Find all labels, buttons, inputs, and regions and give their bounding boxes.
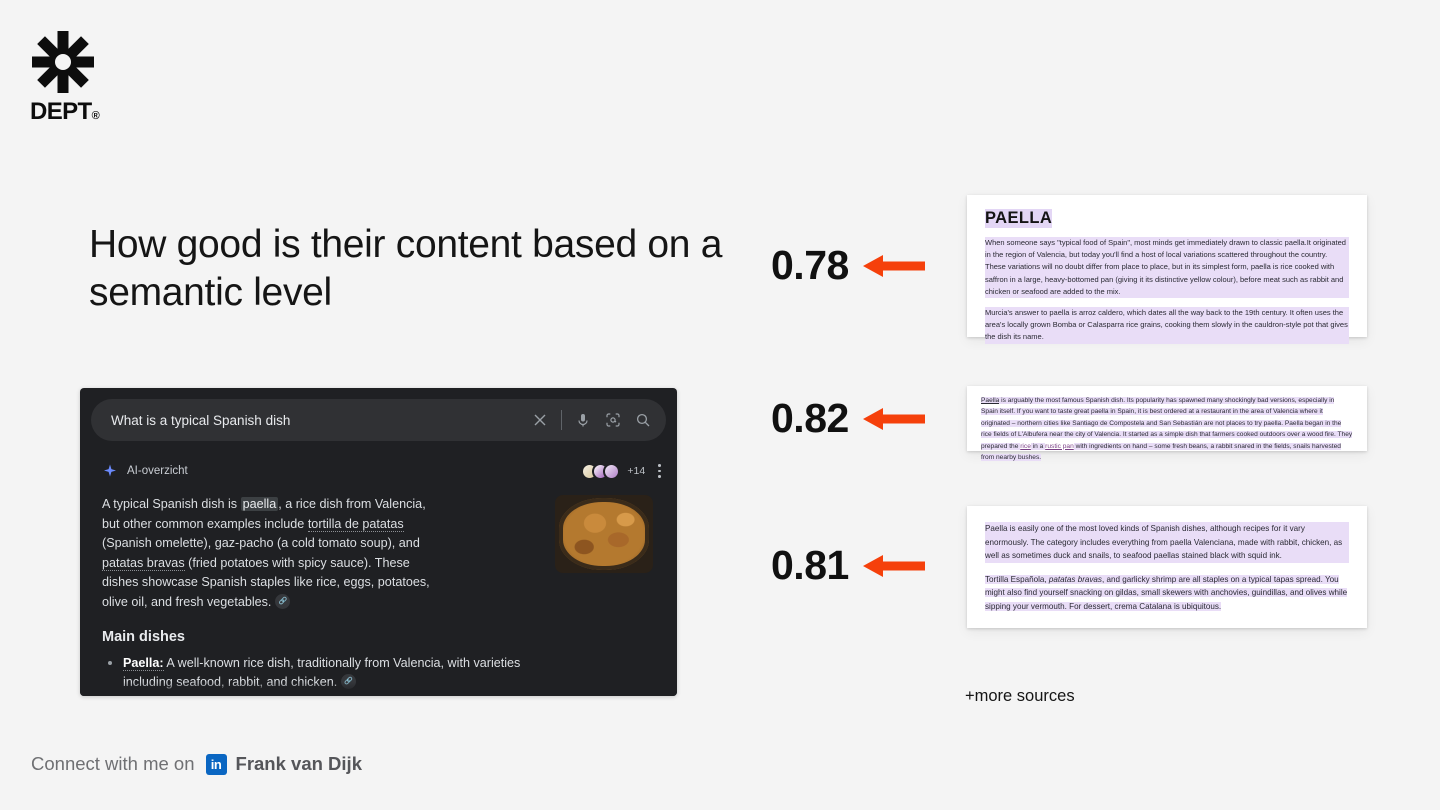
ai-overview-body: A typical Spanish dish is paella, a rice… [80,487,677,696]
google-lens-icon[interactable] [598,405,628,435]
toolbar-divider [561,410,562,430]
score-row-1: 0.78 [771,245,925,286]
dept-asterisk-icon [32,31,94,93]
search-icon[interactable] [628,405,658,435]
source-card-title: PAELLA [985,209,1052,228]
linkedin-icon[interactable]: in [206,754,227,775]
para-term-tortilla: tortilla de patatas [308,517,404,532]
para-part-1: A typical Spanish dish is [102,497,241,511]
source-card-paragraph: Murcia's answer to paella is arroz calde… [985,307,1349,344]
source-card-1[interactable]: PAELLA When someone says "typical food o… [967,195,1367,337]
search-bar[interactable]: What is a typical Spanish dish [91,399,666,441]
ai-overview-paragraph: A typical Spanish dish is paella, a rice… [102,495,437,613]
paella-thumbnail-image[interactable] [555,495,653,573]
source-card-link-rice[interactable]: rice [1020,443,1031,450]
source-count-badge: +14 [627,465,645,477]
source-card-3[interactable]: Paella is easily one of the most loved k… [967,506,1367,628]
bullet-icon [108,661,112,665]
dish-name: Paella: [123,656,164,671]
page-title: How good is their content based on a sem… [89,221,769,317]
arrow-left-icon [863,253,925,279]
source-card-text-2: in a [1031,443,1045,450]
main-dishes-heading: Main dishes [102,629,653,645]
score-row-2: 0.82 [771,398,925,439]
score-value: 0.78 [771,245,849,286]
footer-connect: Connect with me on in Frank van Dijk [31,753,362,775]
dept-wordmark: DEPT® [30,98,102,126]
source-avatars[interactable]: +14 [581,463,645,480]
source-card-text-a: Tortilla Española, [985,575,1049,584]
score-value: 0.82 [771,398,849,439]
para-term-bravas: patatas bravas [102,556,185,571]
overflow-menu-icon[interactable] [658,464,661,477]
source-card-2[interactable]: Paella is arguably the most famous Spani… [967,386,1367,451]
source-card-paragraph: Paella is arguably the most famous Spani… [981,395,1353,463]
source-card-link-rustic-pan[interactable]: rustic pan [1045,443,1074,450]
source-card-text-1: is arguably the most famous Spanish dish… [981,397,1352,450]
ai-overview-header: AI-overzicht +14 [102,455,661,487]
microphone-icon[interactable] [568,405,598,435]
dept-logo: DEPT® [30,31,102,121]
clear-search-icon[interactable] [525,405,555,435]
footer-prefix: Connect with me on [31,753,195,775]
source-favicon [603,463,620,480]
search-input[interactable]: What is a typical Spanish dish [91,413,525,428]
score-row-3: 0.81 [771,545,925,586]
dept-trademark: ® [92,110,100,122]
source-card-text-italic: patatas bravas [1049,575,1102,584]
source-card-paragraph: Paella is easily one of the most loved k… [985,522,1349,563]
source-card-paragraph: When someone says "typical food of Spain… [985,237,1349,298]
arrow-left-icon [863,553,925,579]
source-card-lead: Paella [981,397,999,404]
panel-fade [80,682,677,696]
dept-wordmark-text: DEPT [30,98,92,125]
ai-overview-label: AI-overzicht [127,465,581,477]
score-value: 0.81 [771,545,849,586]
sparkle-icon [102,463,118,479]
para-highlight-paella: paella [241,497,279,511]
arrow-left-icon [863,406,925,432]
more-sources-label[interactable]: +more sources [965,687,1075,706]
slide-canvas: DEPT® How good is their content based on… [0,0,1440,810]
source-link-icon[interactable] [275,594,290,609]
source-card-paragraph: Tortilla Española, patatas bravas, and g… [985,573,1349,614]
para-part-3: (Spanish omelette), gaz-pacho (a cold to… [102,536,420,550]
google-serp-screenshot: What is a typical Spanish dish AI-overzi… [80,388,677,696]
footer-author-name[interactable]: Frank van Dijk [236,753,362,775]
